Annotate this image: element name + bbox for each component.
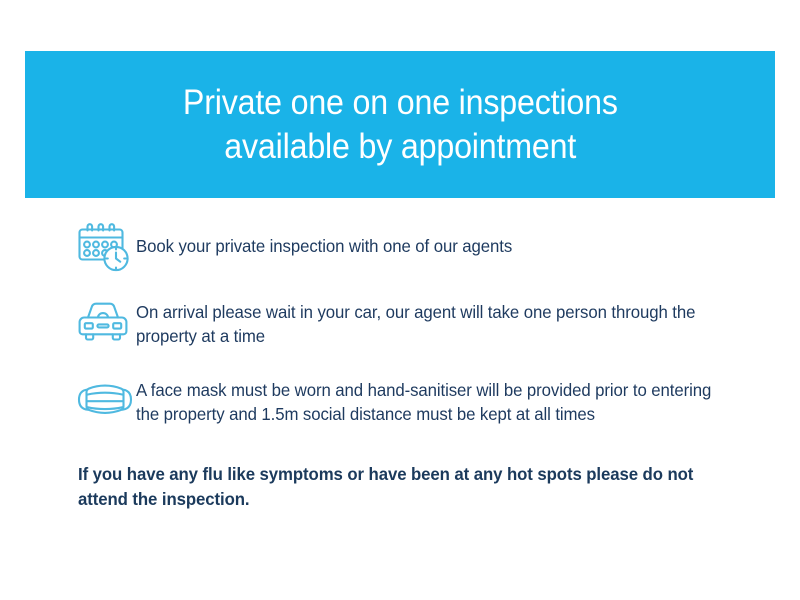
headline-line-2: available by appointment	[224, 125, 576, 169]
calendar-clock-icon	[76, 222, 136, 274]
car-front-icon	[76, 296, 136, 348]
list-item-text: Book your private inspection with one of…	[136, 222, 512, 258]
list-item: A face mask must be worn and hand-saniti…	[0, 374, 800, 426]
guidelines-list: Book your private inspection with one of…	[0, 222, 800, 448]
list-item-text: A face mask must be worn and hand-saniti…	[136, 374, 712, 426]
headline-line-1: Private one on one inspections	[183, 81, 618, 125]
headline-banner: Private one on one inspections available…	[25, 51, 775, 198]
footer-warning-note: If you have any flu like symptoms or hav…	[78, 462, 712, 512]
face-mask-icon	[76, 374, 136, 426]
list-item: On arrival please wait in your car, our …	[0, 296, 800, 348]
inspection-notice-poster: Private one on one inspections available…	[0, 0, 800, 600]
list-item-text: On arrival please wait in your car, our …	[136, 296, 712, 348]
list-item: Book your private inspection with one of…	[0, 222, 800, 274]
